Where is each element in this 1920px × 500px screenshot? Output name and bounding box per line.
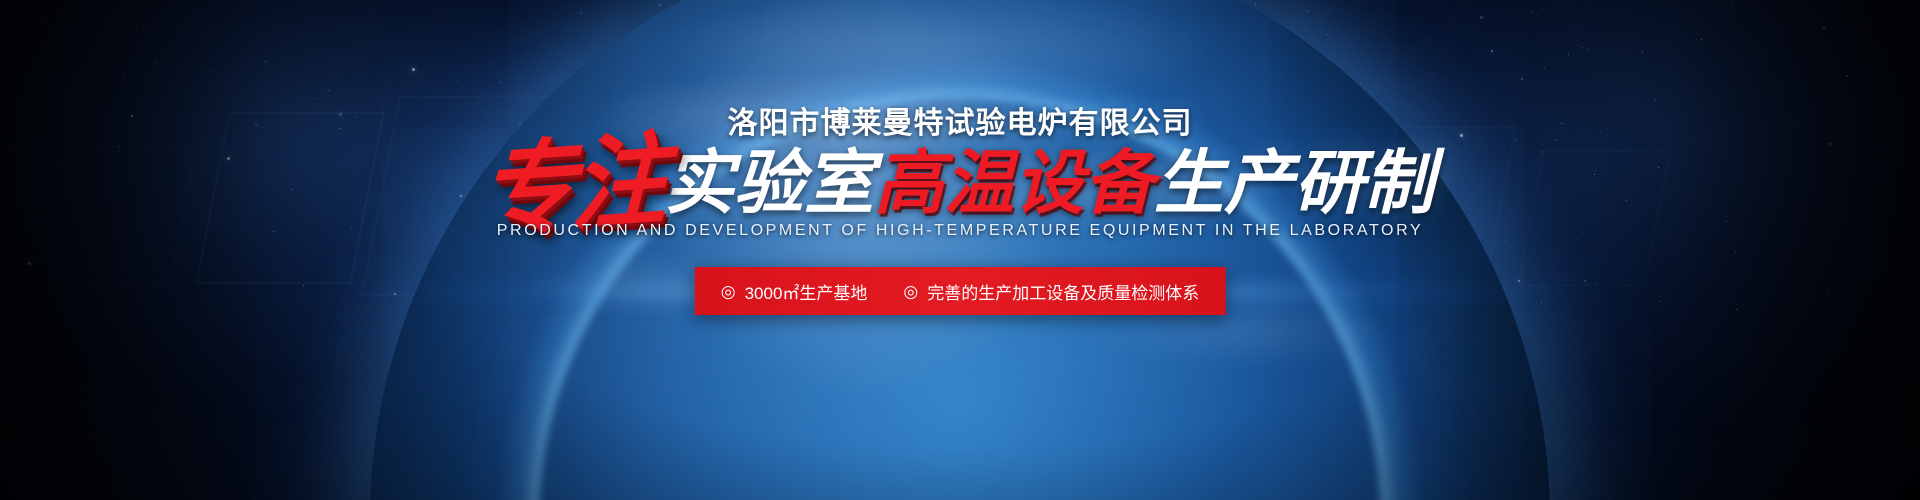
english-subtitle: PRODUCTION AND DEVELOPMENT OF HIGH-TEMPE… — [0, 222, 1920, 240]
circle-target-icon: ◎ — [721, 283, 736, 300]
headline-white-part-1: 实验室 — [664, 127, 874, 228]
banner-content: 洛阳市博莱曼特试验电炉有限公司 专注 实验室 高温设备 生产研制 PRODUCT… — [0, 0, 1920, 500]
hero-banner: EQUIPMENT 洛阳市博莱曼特试验电炉有限公司 专注 实验室 高温设备 生产… — [0, 0, 1920, 500]
headline-white-part-2: 生产研制 — [1154, 127, 1434, 228]
feature-badge: ◎ 完善的生产加工设备及质量检测体系 — [903, 279, 1199, 304]
feature-badge-label: 完善的生产加工设备及质量检测体系 — [927, 279, 1199, 304]
feature-badge: ◎ 3000㎡生产基地 — [721, 279, 868, 304]
headline-red-part: 高温设备 — [874, 127, 1154, 228]
headline: 专注 实验室 高温设备 生产研制 — [0, 135, 1920, 219]
feature-badge-label: 3000㎡生产基地 — [745, 279, 868, 304]
feature-badge-bar: ◎ 3000㎡生产基地 ◎ 完善的生产加工设备及质量检测体系 — [695, 267, 1226, 315]
circle-target-icon: ◎ — [903, 283, 918, 300]
